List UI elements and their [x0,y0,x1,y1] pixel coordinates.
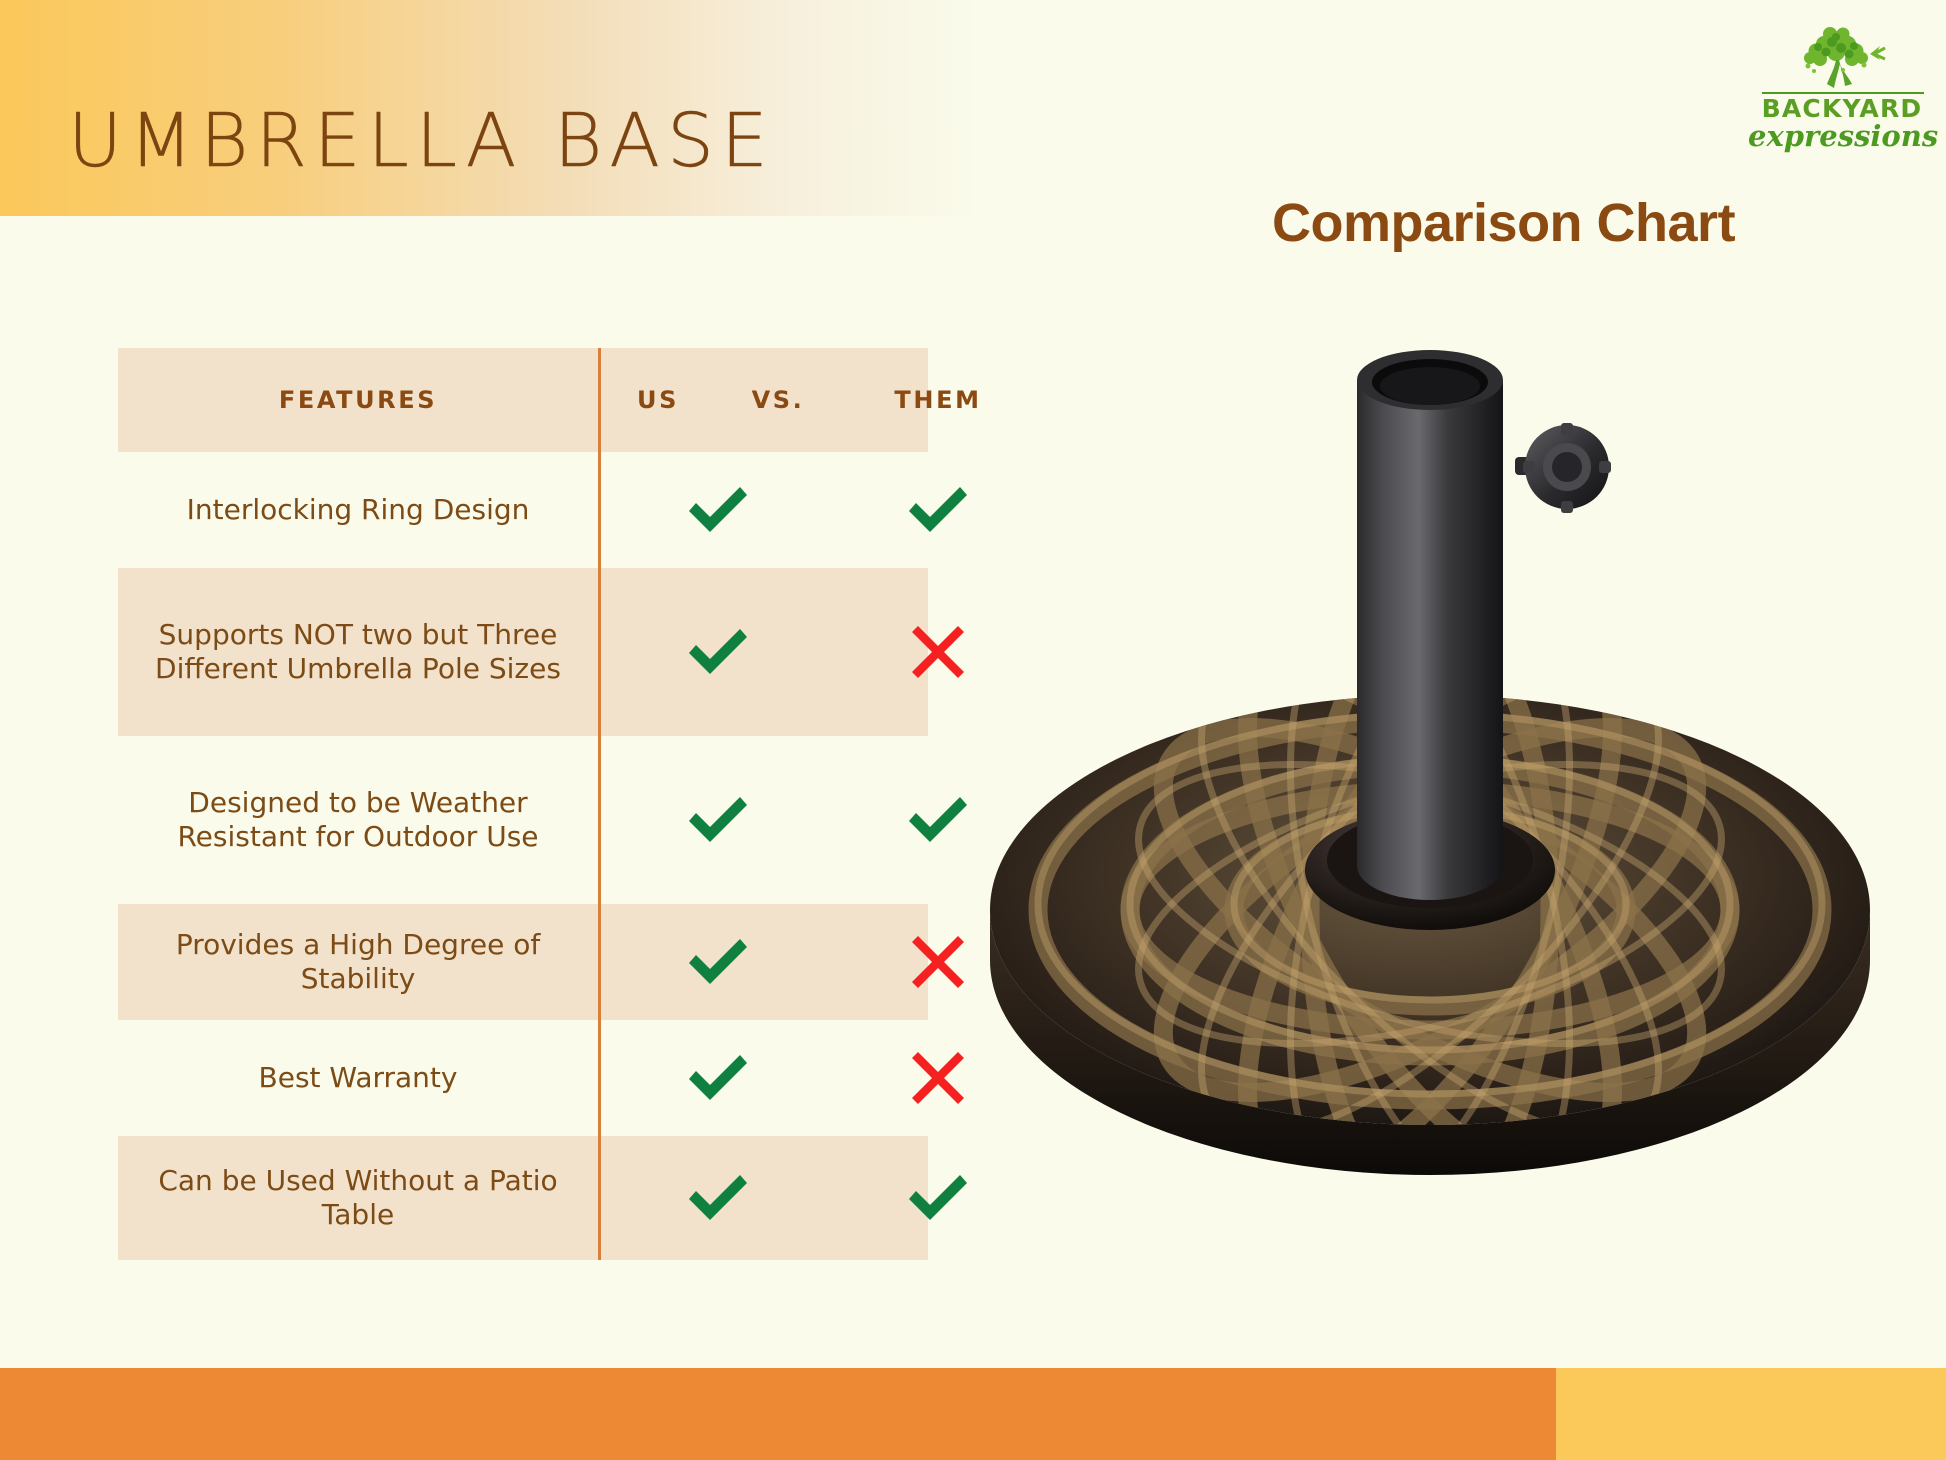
us-mark-check [598,1020,838,1136]
table-row: Best Warranty [118,1020,928,1136]
footer-bar-main [0,1368,1556,1460]
table-row: Interlocking Ring Design [118,452,928,568]
column-divider [598,348,601,1260]
logo-wordmark: BACKYARD [1748,96,1936,121]
table-header-row: FEATURESUSVS.THEM [118,348,928,452]
feature-label: Interlocking Ring Design [118,452,598,568]
footer-bar-accent [1556,1368,1946,1460]
brand-logo: BACKYARD expressions [1748,18,1936,150]
footer-bar [0,1368,1946,1460]
us-mark-check [598,904,838,1020]
feature-label: Can be Used Without a Patio Table [118,1136,598,1260]
table-row: Can be Used Without a Patio Table [118,1136,928,1260]
feature-label: Designed to be Weather Resistant for Out… [118,736,598,904]
check-icon [686,626,750,678]
comparison-table: FEATURESUSVS.THEMInterlocking Ring Desig… [118,348,928,1260]
column-header-us: US [598,348,718,452]
us-mark-check [598,1136,838,1260]
column-header-vs: VS. [718,348,838,452]
table-row: Supports NOT two but Three Different Umb… [118,568,928,736]
column-header-features: FEATURES [118,348,598,452]
table-row: Designed to be Weather Resistant for Out… [118,736,928,904]
comparison-chart-heading: Comparison Chart [1272,196,1735,250]
feature-label: Provides a High Degree of Stability [118,904,598,1020]
us-mark-check [598,452,838,568]
feature-label: Best Warranty [118,1020,598,1136]
feature-label: Supports NOT two but Three Different Umb… [118,568,598,736]
check-icon [686,794,750,846]
table-row: Provides a High Degree of Stability [118,904,928,1020]
check-icon [686,484,750,536]
us-mark-check [598,736,838,904]
check-icon [686,936,750,988]
logo-subword: expressions [1748,122,1936,151]
check-icon [686,1052,750,1104]
tree-icon [1748,18,1936,98]
umbrella-base-product-photo [925,270,1935,1220]
page-title: UMBRELLA BASE [68,104,775,178]
us-mark-check [598,568,838,736]
check-icon [686,1172,750,1224]
title-banner: UMBRELLA BASE [0,0,978,216]
